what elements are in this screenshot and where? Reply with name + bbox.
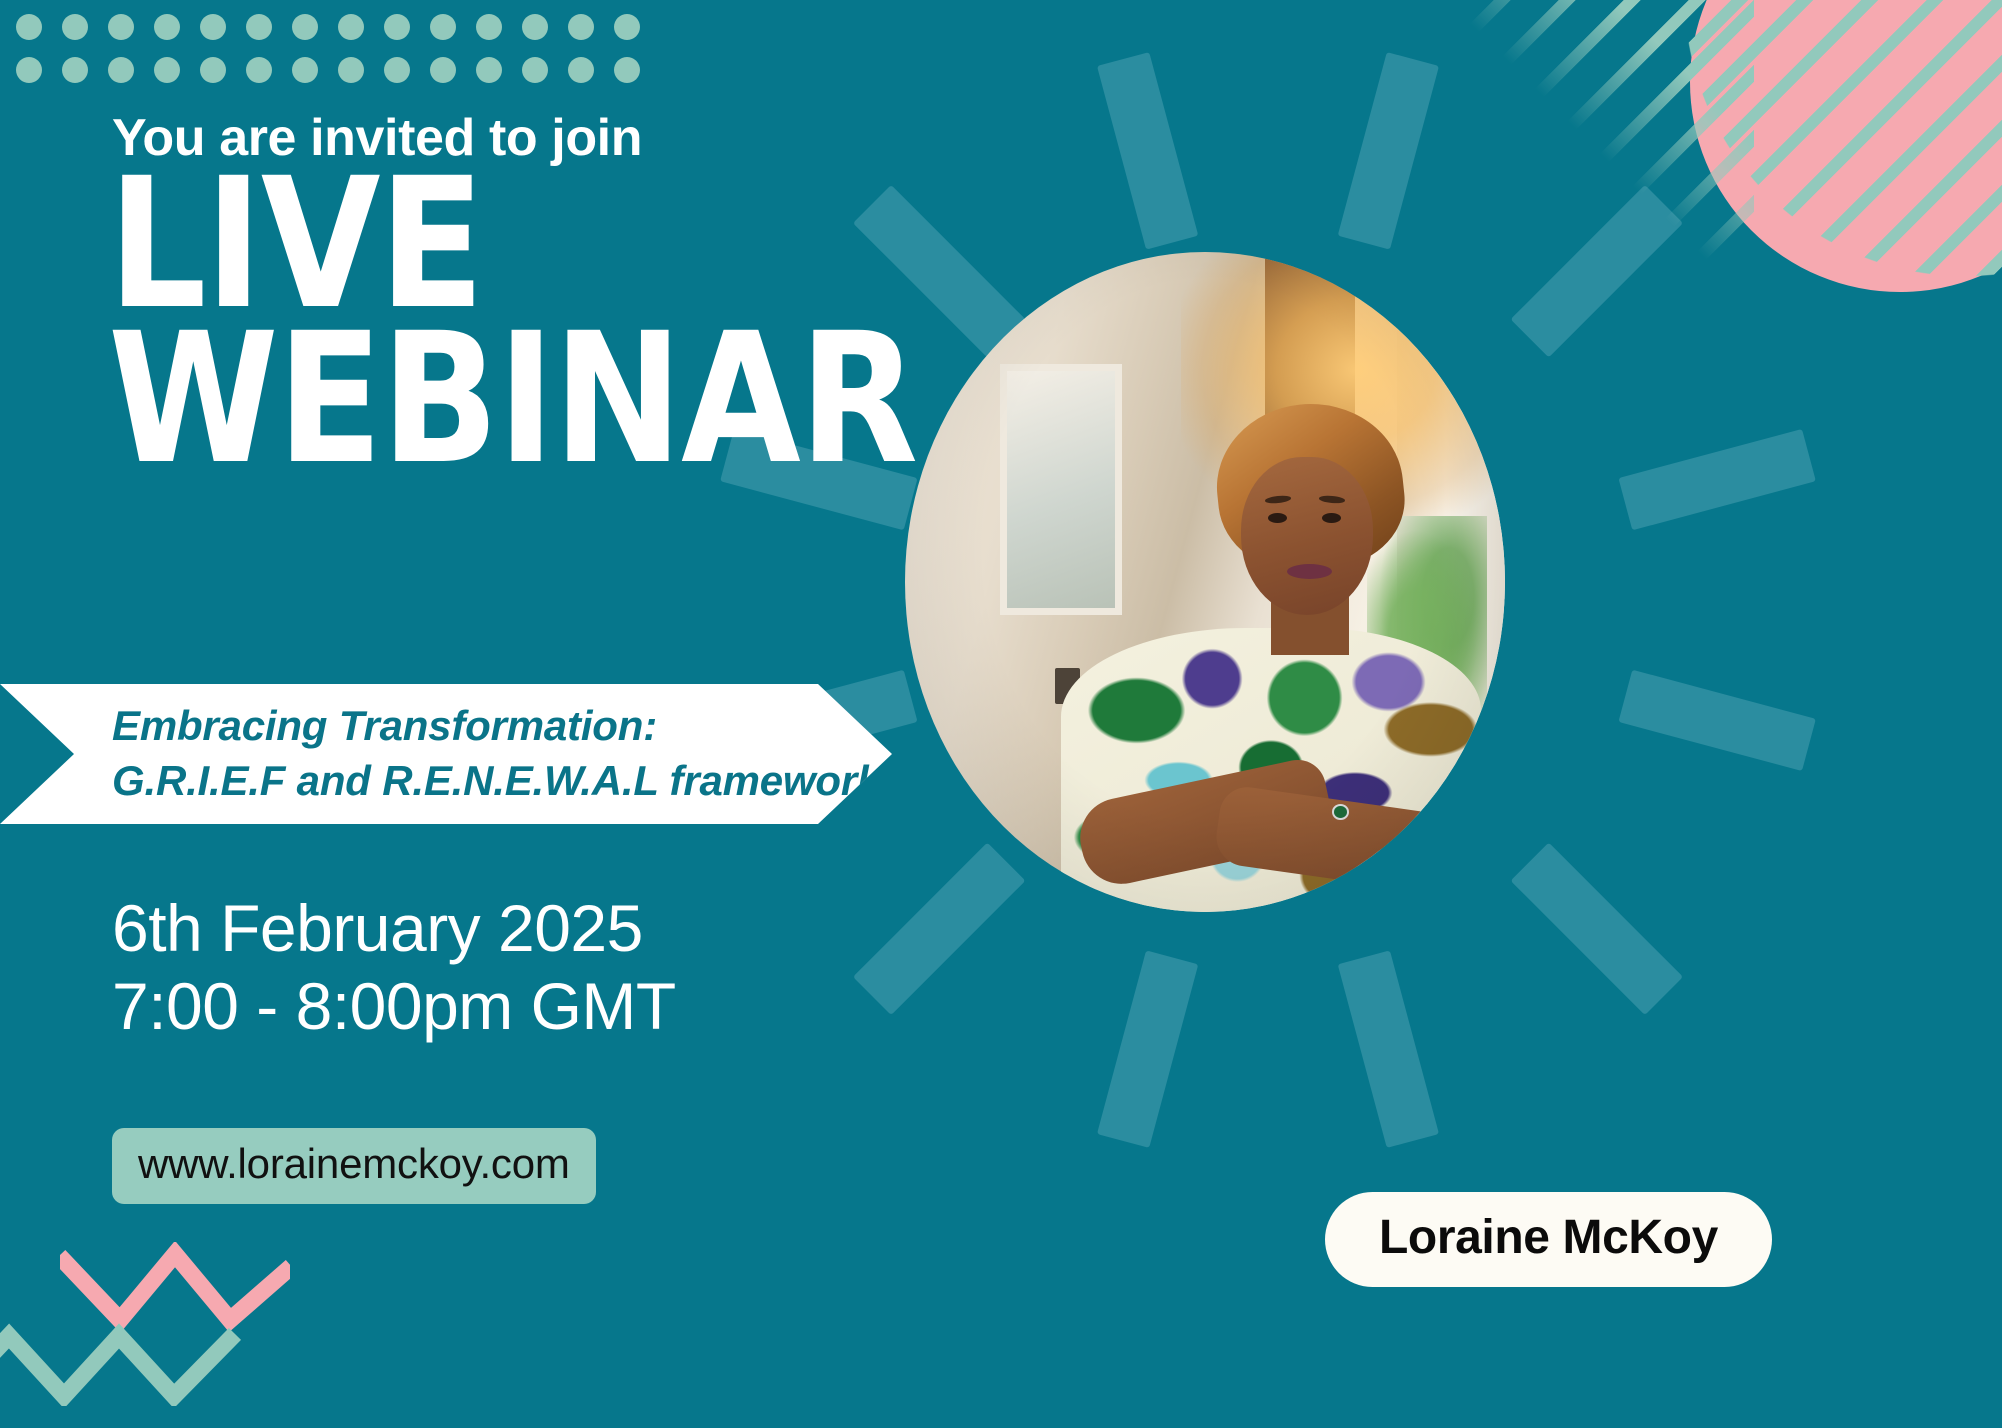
event-time: 7:00 - 8:00pm GMT	[112, 968, 676, 1046]
sunburst-ray	[1338, 52, 1439, 250]
dot	[614, 57, 640, 83]
dot	[338, 14, 364, 40]
sunburst-ray	[1338, 950, 1439, 1148]
website-url-badge[interactable]: www.lorainemckoy.com	[112, 1128, 596, 1204]
sunburst-ray	[1511, 185, 1684, 358]
headline-line-webinar: WEBINAR	[108, 323, 917, 478]
dot-grid-decoration	[16, 14, 640, 83]
dot	[522, 14, 548, 40]
speaker-photo-image	[905, 252, 1505, 912]
zigzag-green-decoration	[0, 1316, 254, 1406]
dot-row	[16, 57, 640, 83]
speaker-name-badge: Loraine McKoy	[1325, 1192, 1772, 1287]
page-title: LIVE WEBINAR	[108, 168, 917, 478]
dot	[430, 57, 456, 83]
dot	[108, 14, 134, 40]
dot-row	[16, 14, 640, 40]
dot	[522, 57, 548, 83]
dot	[62, 57, 88, 83]
topic-line-2: G.R.I.E.F and R.E.N.E.W.A.L frameworks	[112, 754, 892, 809]
speaker-photo	[905, 252, 1505, 912]
sunburst-ray	[1097, 950, 1198, 1148]
dot	[338, 57, 364, 83]
topic-ribbon: Embracing Transformation: G.R.I.E.F and …	[0, 684, 892, 824]
sunburst-ray	[1511, 843, 1684, 1016]
topic-line-1: Embracing Transformation:	[112, 699, 892, 754]
sunburst-ray	[1618, 670, 1816, 771]
dot	[154, 14, 180, 40]
dot	[292, 14, 318, 40]
dot	[16, 57, 42, 83]
dot	[384, 57, 410, 83]
sunburst-ray	[1618, 429, 1816, 530]
dot	[568, 57, 594, 83]
dot	[16, 14, 42, 40]
sunburst-ray	[1097, 52, 1198, 250]
dot	[614, 14, 640, 40]
dot	[292, 57, 318, 83]
dot	[384, 14, 410, 40]
dot	[200, 14, 226, 40]
dot	[200, 57, 226, 83]
dot	[246, 14, 272, 40]
dot	[568, 14, 594, 40]
dot	[476, 57, 502, 83]
webinar-poster: You are invited to join LIVE WEBINAR Emb…	[0, 0, 2002, 1428]
dot	[430, 14, 456, 40]
dot	[476, 14, 502, 40]
event-date: 6th February 2025	[112, 890, 676, 968]
photo-vignette	[905, 252, 1505, 912]
schedule-block: 6th February 2025 7:00 - 8:00pm GMT	[112, 890, 676, 1046]
dot	[62, 14, 88, 40]
dot	[246, 57, 272, 83]
dot	[108, 57, 134, 83]
dot	[154, 57, 180, 83]
corner-circle-decoration	[1690, 0, 2002, 292]
